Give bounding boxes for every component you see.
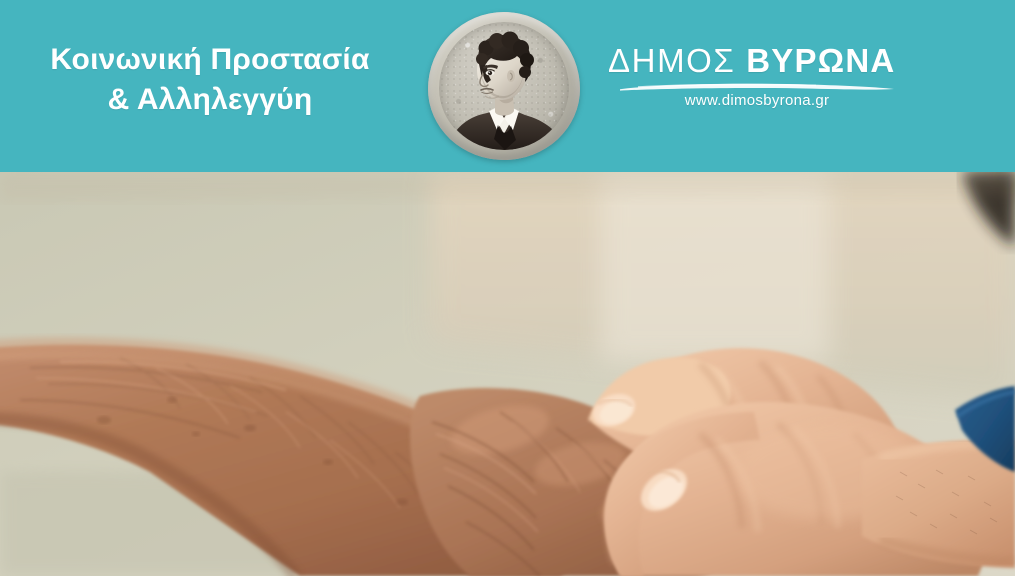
logo-wordmark: ΔΗΜΟΣ ΒΥΡΩΝΑ	[608, 44, 908, 77]
page-title-line-1: Κοινωνική Προστασία	[0, 40, 420, 80]
page-title: Κοινωνική Προστασία & Αλληλεγγύη	[0, 40, 420, 119]
header-bar: Κοινωνική Προστασία & Αλληλεγγύη	[0, 0, 1015, 172]
lord-byron-medallion-icon	[428, 12, 580, 160]
page-title-line-2: & Αλληλεγγύη	[0, 80, 420, 120]
municipality-logo[interactable]: ΔΗΜΟΣ ΒΥΡΩΝΑ www.dimosbyrona.gr	[608, 44, 908, 109]
logo-word-byrona: ΒΥΡΩΝΑ	[746, 42, 895, 79]
logo-word-dimos: ΔΗΜΟΣ	[608, 42, 735, 79]
logo-website-url[interactable]: www.dimosbyrona.gr	[616, 92, 898, 109]
hands-photo-illustration	[0, 172, 1015, 576]
swoosh-brushstroke-icon	[616, 82, 898, 93]
medallion-plate	[439, 22, 569, 150]
social-solidarity-banner: Κοινωνική Προστασία & Αλληλεγγύη	[0, 0, 1015, 576]
hands-photograph	[0, 172, 1015, 576]
byron-portrait-illustration	[439, 22, 569, 150]
logo-swoosh-underline	[616, 80, 898, 91]
